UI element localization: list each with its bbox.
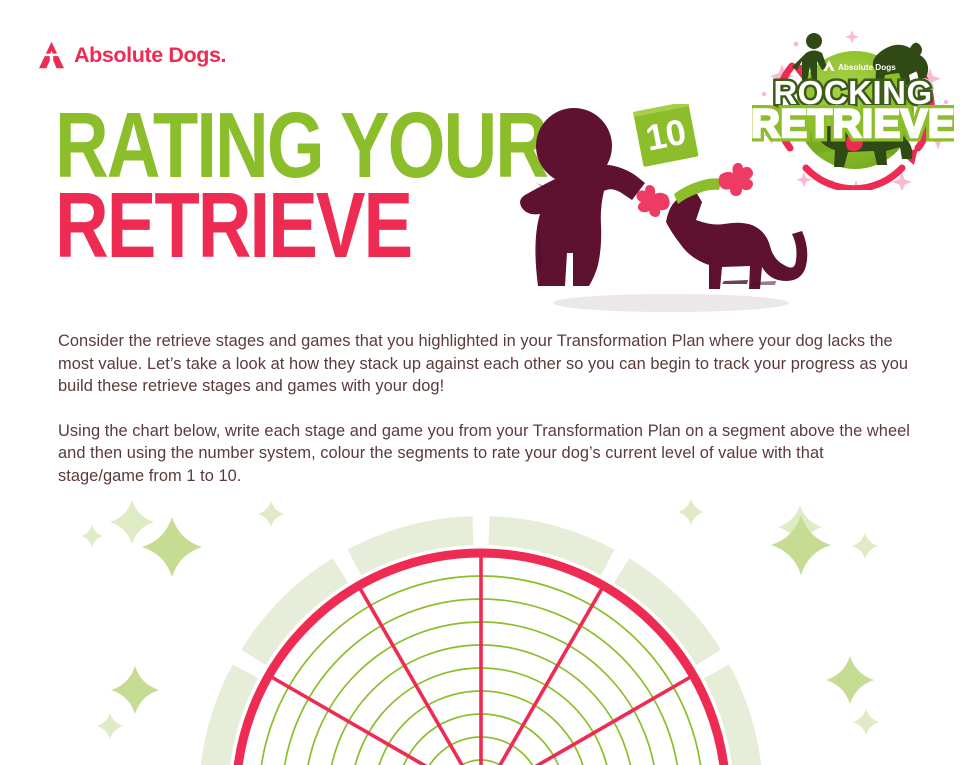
sparkle-star-icon-3 <box>258 501 284 527</box>
sparkle-star-icon-0 <box>81 525 103 547</box>
sparkle-star-icon-9 <box>852 533 878 559</box>
person-rating-dog-illustration: 10 <box>516 104 816 316</box>
brand-logo[interactable]: Absolute Dogs. <box>38 40 226 70</box>
svg-text:Absolute Dogs: Absolute Dogs <box>838 63 896 72</box>
absolute-dogs-mark-icon <box>38 41 65 69</box>
sparkle-star-icon-5 <box>97 713 123 739</box>
sparkle-star-icon-8 <box>771 515 831 575</box>
sparkle-star-icon-4 <box>111 666 159 714</box>
page-title: RATING YOUR RETRIEVE <box>55 106 575 266</box>
brand-wordmark: Absolute Dogs. <box>74 43 226 68</box>
sparkle-star-icon-10 <box>826 656 874 704</box>
wheel-label-segment <box>614 558 721 665</box>
illustration-person-icon <box>520 108 645 286</box>
rating-wheel-chart[interactable] <box>0 495 962 765</box>
score-card-value: 10 <box>642 111 689 159</box>
wheel-label-segment <box>241 558 348 665</box>
illustration-ground-shadow <box>553 294 789 312</box>
illustration-dog-icon <box>666 192 807 289</box>
sparkle-star-icon-6 <box>678 499 704 525</box>
body-paragraph-1: Consider the retrieve stages and games t… <box>58 330 910 398</box>
sparkle-star-icon-1 <box>110 500 154 544</box>
page-title-line-2: RETRIEVE <box>55 186 471 266</box>
sparkle-star-icon-11 <box>853 709 879 735</box>
illustration-score-card: 10 <box>633 104 699 167</box>
body-paragraph-2: Using the chart below, write each stage … <box>58 420 910 488</box>
body-copy: Consider the retrieve stages and games t… <box>58 330 910 487</box>
sparkle-star-icon-2 <box>142 517 202 577</box>
